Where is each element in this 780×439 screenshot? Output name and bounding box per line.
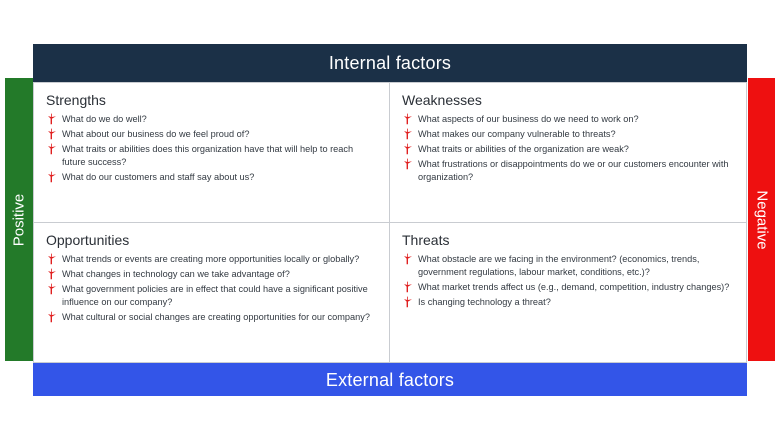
red-arrow-bullet-icon: [403, 158, 413, 170]
bullet-item: What frustrations or disappointments do …: [400, 158, 732, 184]
quadrant-strengths: Strengths What do we do well?What about …: [34, 83, 390, 223]
bullet-item-text: What about our business do we feel proud…: [62, 129, 249, 139]
quadrant-title-opportunities: Opportunities: [46, 232, 375, 248]
bullet-item: What market trends affect us (e.g., dema…: [400, 281, 732, 294]
bullet-item: What aspects of our business do we need …: [400, 113, 732, 126]
red-arrow-bullet-icon: [403, 296, 413, 308]
negative-axis-bar: Negative: [748, 78, 775, 361]
bullet-item: What obstacle are we facing in the envir…: [400, 253, 732, 279]
bullet-item: Is changing technology a threat?: [400, 296, 732, 309]
bullet-item-text: What market trends affect us (e.g., dema…: [418, 282, 729, 292]
positive-axis-bar: Positive: [5, 78, 33, 361]
swot-quadrant-grid: Strengths What do we do well?What about …: [33, 82, 747, 363]
bullet-item-text: Is changing technology a threat?: [418, 297, 551, 307]
bullet-item-text: What do our customers and staff say abou…: [62, 172, 254, 182]
internal-factors-bar: Internal factors: [33, 44, 747, 82]
quadrant-title-threats: Threats: [402, 232, 732, 248]
red-arrow-bullet-icon: [403, 253, 413, 265]
red-arrow-bullet-icon: [403, 128, 413, 140]
quadrant-threats: Threats What obstacle are we facing in t…: [390, 223, 746, 363]
red-arrow-bullet-icon: [47, 143, 57, 155]
external-factors-bar: External factors: [33, 363, 747, 396]
bullet-item-text: What trends or events are creating more …: [62, 254, 359, 264]
bullet-list-weaknesses: What aspects of our business do we need …: [400, 113, 732, 184]
bullet-item-text: What obstacle are we facing in the envir…: [418, 254, 699, 277]
bullet-list-strengths: What do we do well?What about our busine…: [44, 113, 375, 184]
bullet-item-text: What traits or abilities does this organ…: [62, 144, 353, 167]
bullet-item: What do we do well?: [44, 113, 375, 126]
bullet-item-text: What government policies are in effect t…: [62, 284, 368, 307]
red-arrow-bullet-icon: [47, 171, 57, 183]
quadrant-weaknesses: Weaknesses What aspects of our business …: [390, 83, 746, 223]
red-arrow-bullet-icon: [47, 113, 57, 125]
red-arrow-bullet-icon: [47, 128, 57, 140]
positive-axis-label: Positive: [12, 193, 27, 246]
bullet-item: What about our business do we feel proud…: [44, 128, 375, 141]
red-arrow-bullet-icon: [47, 268, 57, 280]
bullet-item: What traits or abilities does this organ…: [44, 143, 375, 169]
swot-matrix-diagram: Internal factors Positive Negative Stren…: [0, 0, 780, 439]
bullet-list-threats: What obstacle are we facing in the envir…: [400, 253, 732, 309]
quadrant-title-strengths: Strengths: [46, 92, 375, 108]
quadrant-title-weaknesses: Weaknesses: [402, 92, 732, 108]
red-arrow-bullet-icon: [47, 253, 57, 265]
red-arrow-bullet-icon: [403, 143, 413, 155]
bullet-item-text: What aspects of our business do we need …: [418, 114, 639, 124]
bullet-item-text: What frustrations or disappointments do …: [418, 159, 728, 182]
quadrant-opportunities: Opportunities What trends or events are …: [34, 223, 390, 363]
negative-axis-label: Negative: [754, 190, 769, 249]
bullet-item: What trends or events are creating more …: [44, 253, 375, 266]
bullet-item: What makes our company vulnerable to thr…: [400, 128, 732, 141]
red-arrow-bullet-icon: [403, 113, 413, 125]
bullet-item: What changes in technology can we take a…: [44, 268, 375, 281]
bullet-item-text: What changes in technology can we take a…: [62, 269, 290, 279]
red-arrow-bullet-icon: [47, 311, 57, 323]
bullet-item-text: What makes our company vulnerable to thr…: [418, 129, 616, 139]
bullet-list-opportunities: What trends or events are creating more …: [44, 253, 375, 324]
bullet-item: What do our customers and staff say abou…: [44, 171, 375, 184]
bullet-item-text: What cultural or social changes are crea…: [62, 312, 370, 322]
bullet-item: What government policies are in effect t…: [44, 283, 375, 309]
bullet-item: What traits or abilities of the organiza…: [400, 143, 732, 156]
bullet-item-text: What traits or abilities of the organiza…: [418, 144, 629, 154]
red-arrow-bullet-icon: [47, 283, 57, 295]
external-factors-label: External factors: [326, 371, 454, 389]
red-arrow-bullet-icon: [403, 281, 413, 293]
internal-factors-label: Internal factors: [329, 54, 451, 72]
bullet-item: What cultural or social changes are crea…: [44, 311, 375, 324]
bullet-item-text: What do we do well?: [62, 114, 147, 124]
